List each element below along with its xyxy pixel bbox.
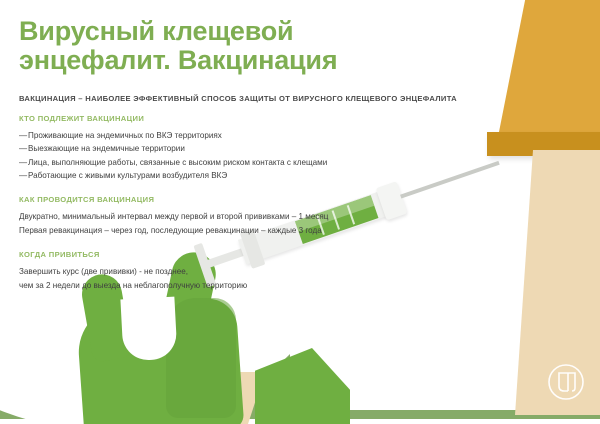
text-line: Двукратно, минимальный интервал между пе… xyxy=(19,210,459,224)
section-heading: КАК ПРОВОДИТСЯ ВАКЦИНАЦИЯ xyxy=(19,195,459,204)
section-heading: КТО ПОДЛЕЖИТ ВАКЦИНАЦИИ xyxy=(19,114,459,123)
text-line: чем за 2 недели до выезда на неблагополу… xyxy=(19,279,459,293)
bullet-text: Лица, выполняющие работы, связанные с вы… xyxy=(28,158,327,167)
circular-monogram-logo-icon xyxy=(546,362,586,402)
bullet-text: Выезжающие на эндемичные территории xyxy=(28,144,185,153)
bullet-item: —Работающие с живыми культурами возбудит… xyxy=(19,169,459,182)
section-how-vaccination-done: КАК ПРОВОДИТСЯ ВАКЦИНАЦИЯ Двукратно, мин… xyxy=(19,195,459,238)
section-who-is-vaccinated: КТО ПОДЛЕЖИТ ВАКЦИНАЦИИ —Проживающие на … xyxy=(19,114,459,182)
title-line-2: энцефалит. Вакцинация xyxy=(19,46,449,75)
bullet-text: Работающие с живыми культурами возбудите… xyxy=(28,171,227,180)
text-line: Первая ревакцинация – через год, последу… xyxy=(19,224,459,238)
bullet-item: —Выезжающие на эндемичные территории xyxy=(19,142,459,155)
poster-title: Вирусный клещевой энцефалит. Вакцинация xyxy=(19,17,449,75)
section-when-to-vaccinate: КОГДА ПРИВИТЬСЯ Завершить курс (две прив… xyxy=(19,250,459,293)
bullet-text: Проживающие на эндемичных по ВКЭ террито… xyxy=(28,131,222,140)
bullet-dash: — xyxy=(19,129,28,142)
poster-canvas: Вирусный клещевой энцефалит. Вакцинация … xyxy=(0,0,600,424)
text-line: Завершить курс (две прививки) - не поздн… xyxy=(19,265,459,279)
title-line-1: Вирусный клещевой xyxy=(19,17,449,46)
text-content-layer: Вирусный клещевой энцефалит. Вакцинация … xyxy=(0,0,480,424)
bullet-dash: — xyxy=(19,142,28,155)
bullet-dash: — xyxy=(19,156,28,169)
bullet-dash: — xyxy=(19,169,28,182)
bullet-item: —Проживающие на эндемичных по ВКЭ террит… xyxy=(19,129,459,142)
bullet-item: —Лица, выполняющие работы, связанные с в… xyxy=(19,156,459,169)
section-heading: КОГДА ПРИВИТЬСЯ xyxy=(19,250,459,259)
poster-subtitle: ВАКЦИНАЦИЯ – НАИБОЛЕЕ ЭФФЕКТИВНЫЙ СПОСОБ… xyxy=(19,94,469,103)
